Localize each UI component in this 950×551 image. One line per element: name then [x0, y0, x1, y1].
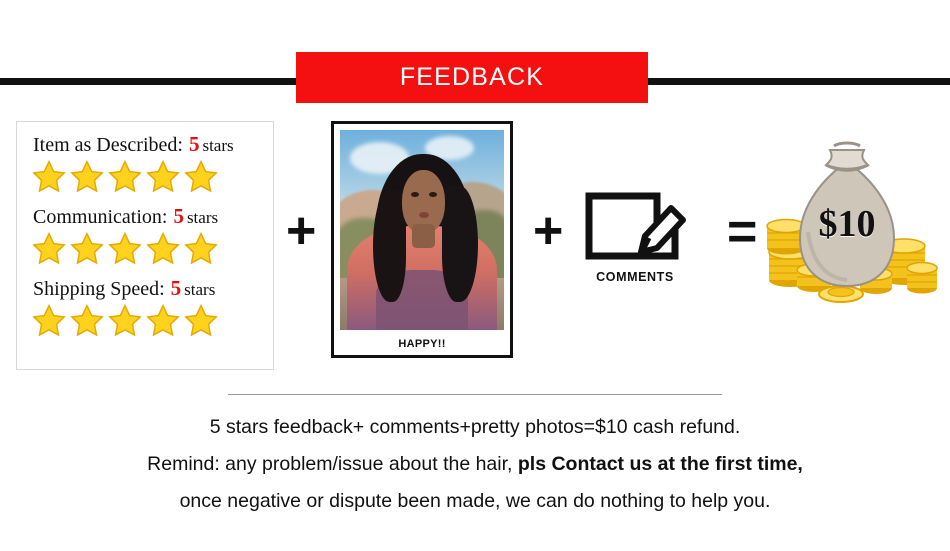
star-row-communication [31, 231, 273, 267]
rating-label-item-as-described: Item as Described:5stars [33, 132, 273, 157]
star-icon [107, 303, 143, 339]
star-icon [145, 303, 181, 339]
star-icon [183, 303, 219, 339]
footer-line-1: 5 stars feedback+ comments+pretty photos… [0, 409, 950, 446]
star-row-item-as-described [31, 159, 273, 195]
star-icon [145, 231, 181, 267]
comments-block: COMMENTS [579, 190, 691, 284]
plus-operator-1: + [286, 205, 316, 257]
star-icon [107, 159, 143, 195]
rating-unit: stars [187, 208, 218, 227]
customer-photo-card: HAPPY!! [331, 121, 513, 358]
star-row-shipping-speed [31, 303, 273, 339]
money-bag-block: $10 [756, 128, 938, 310]
banner-title: FEEDBACK [400, 63, 544, 92]
star-icon [107, 231, 143, 267]
rating-label-communication: Communication:5stars [33, 204, 273, 229]
equals-operator: = [727, 206, 757, 258]
customer-photo-image [340, 130, 504, 330]
rating-value: 5 [183, 132, 203, 156]
rating-label-text: Shipping Speed: [33, 278, 165, 300]
rating-unit: stars [202, 136, 233, 155]
rating-unit: stars [184, 280, 215, 299]
footer-line-2: Remind: any problem/issue about the hair… [0, 446, 950, 483]
star-icon [31, 159, 67, 195]
rating-label-text: Item as Described: [33, 134, 183, 156]
rating-label-shipping-speed: Shipping Speed:5stars [33, 276, 273, 301]
note-with-pencil-icon [579, 190, 691, 262]
rating-value: 5 [165, 276, 185, 300]
star-icon [69, 231, 105, 267]
footer-line-2-normal: Remind: any problem/issue about the hair… [147, 453, 512, 475]
footer-text: 5 stars feedback+ comments+pretty photos… [0, 409, 950, 520]
rating-value: 5 [167, 204, 187, 228]
star-icon [31, 303, 67, 339]
footer-divider [228, 394, 722, 395]
rating-label-text: Communication: [33, 206, 167, 228]
comments-label: COMMENTS [579, 270, 691, 284]
star-icon [183, 159, 219, 195]
star-icon [145, 159, 181, 195]
photo-caption: HAPPY!! [340, 330, 504, 358]
refund-amount: $10 [756, 202, 938, 246]
ratings-panel: Item as Described:5stars Communication:5… [16, 121, 274, 370]
star-icon [69, 303, 105, 339]
footer-line-2-bold: pls Contact us at the first time, [518, 453, 803, 475]
star-icon [31, 231, 67, 267]
plus-operator-2: + [533, 205, 563, 257]
feedback-banner: FEEDBACK [296, 52, 648, 103]
star-icon [69, 159, 105, 195]
money-bag-with-coins-icon [756, 297, 938, 314]
footer-line-3: once negative or dispute been made, we c… [0, 483, 950, 520]
star-icon [183, 231, 219, 267]
